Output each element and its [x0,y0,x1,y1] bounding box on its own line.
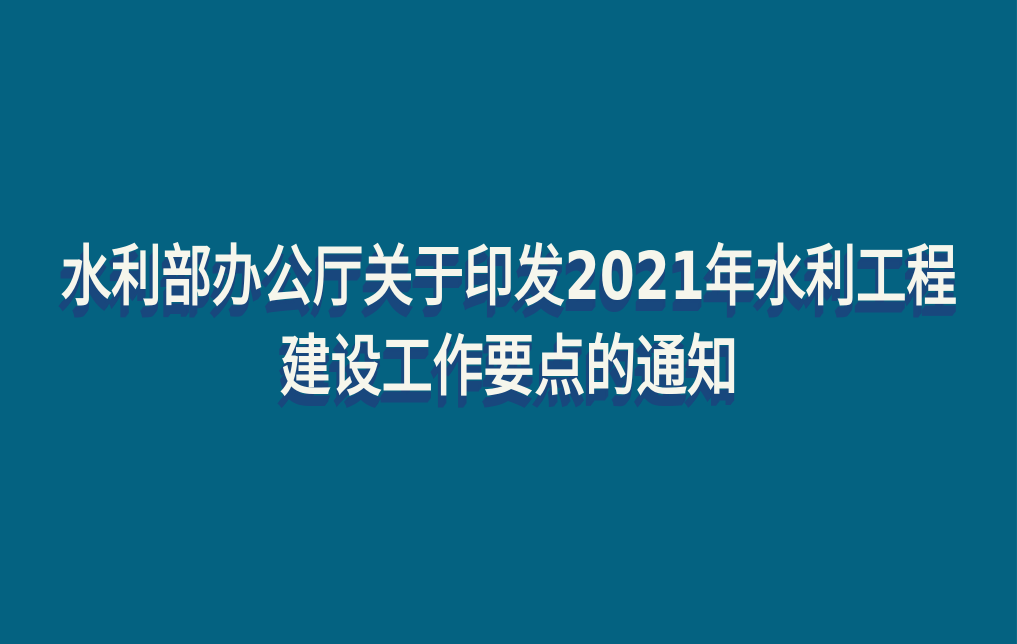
title-line-2: 建设工作要点的通知 [280,334,738,400]
title-block: 水利部办公厅关于印发2021年水利工程 建设工作要点的通知 [0,0,1017,644]
title-banner: 水利部办公厅关于印发2021年水利工程 建设工作要点的通知 [0,0,1017,644]
title-line-1: 水利部办公厅关于印发2021年水利工程 [61,244,957,310]
